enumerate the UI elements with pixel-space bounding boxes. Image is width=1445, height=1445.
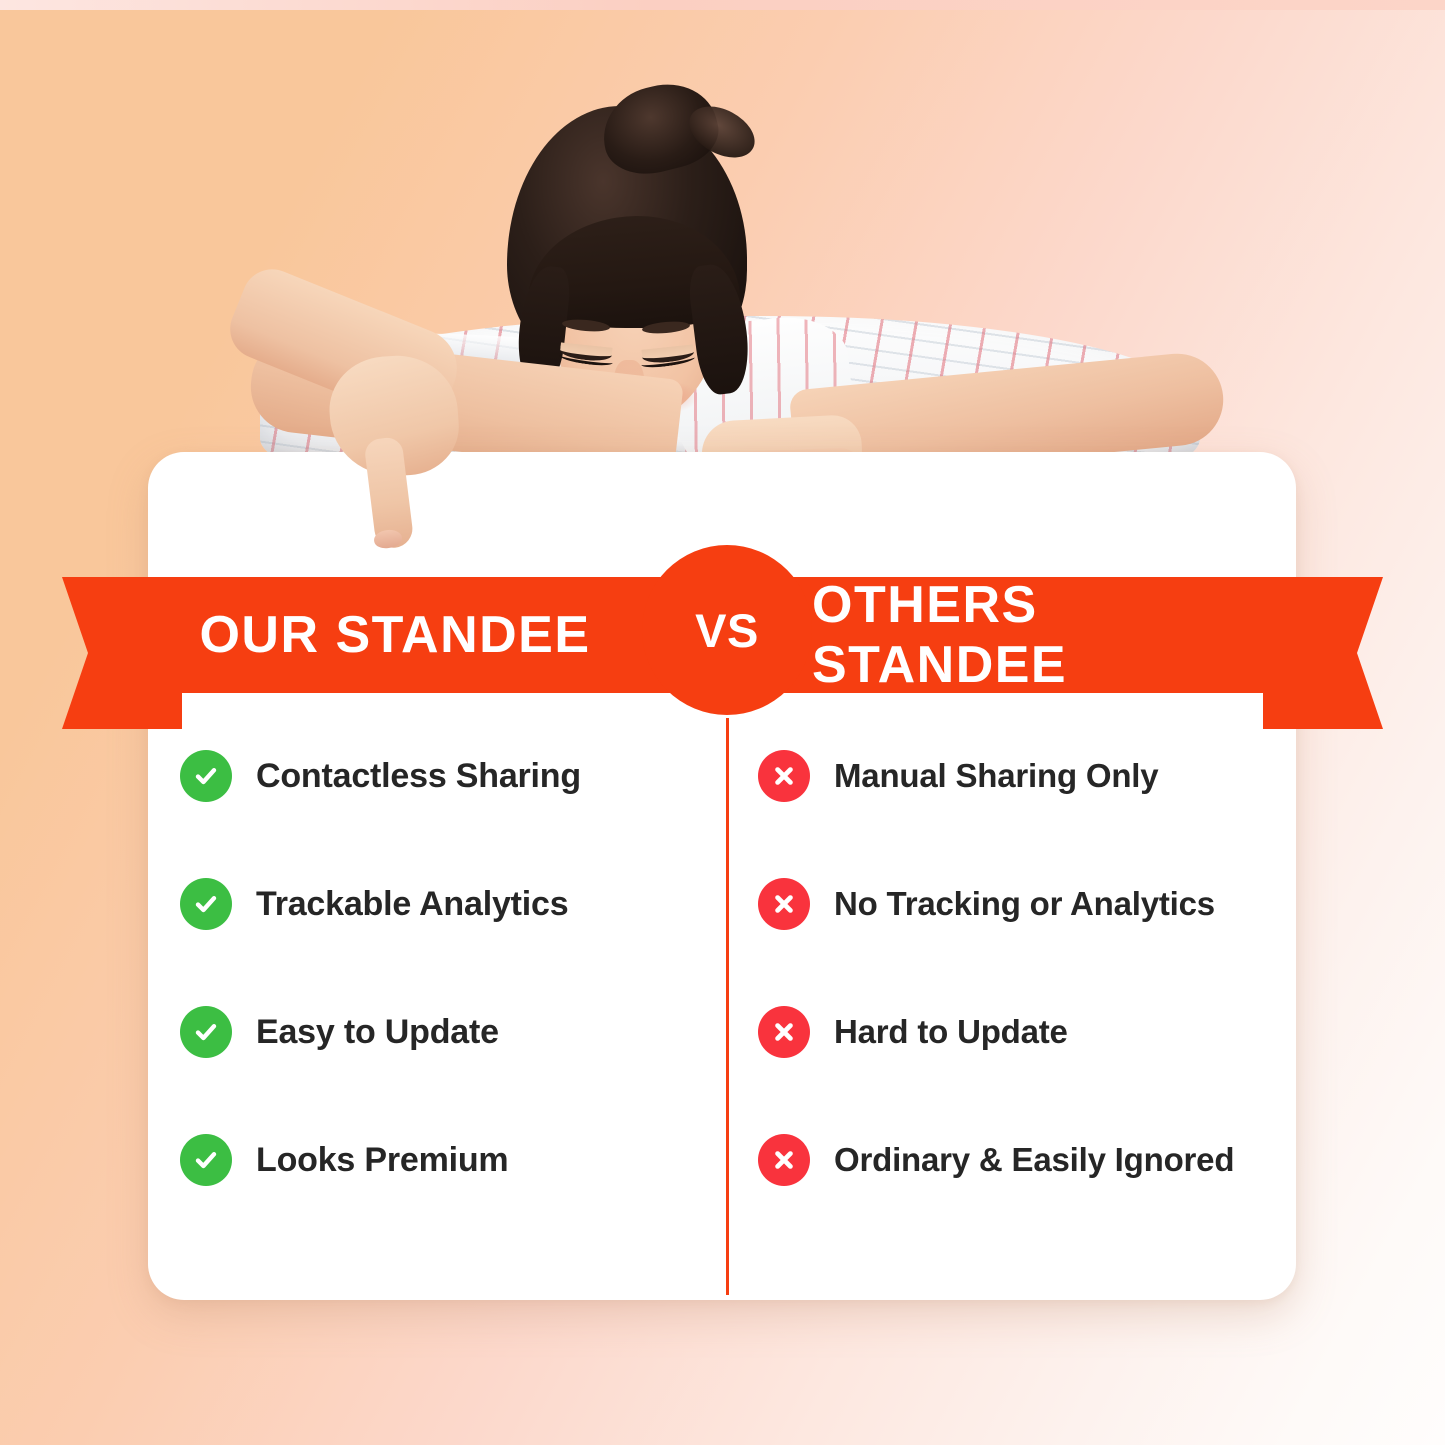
list-item: Manual Sharing Only: [740, 712, 1300, 840]
check-circle-icon: [180, 878, 232, 930]
background-top-band: [0, 0, 1445, 10]
list-item-label: Easy to Update: [256, 1013, 499, 1052]
check-circle-icon: [180, 750, 232, 802]
title-ribbon: OUR STANDEE VS OTHERS STANDEE: [0, 577, 1445, 729]
list-item-label: Hard to Update: [834, 1013, 1068, 1051]
list-item: No Tracking or Analytics: [740, 840, 1300, 968]
list-item-label: Ordinary & Easily Ignored: [834, 1141, 1234, 1179]
list-item: Trackable Analytics: [158, 840, 718, 968]
cross-circle-icon: [758, 878, 810, 930]
list-item-label: Looks Premium: [256, 1141, 508, 1180]
ours-feature-list: Contactless Sharing Trackable Analytics …: [158, 712, 718, 1224]
others-feature-list: Manual Sharing Only No Tracking or Analy…: [740, 712, 1300, 1224]
list-item: Hard to Update: [740, 968, 1300, 1096]
list-item: Contactless Sharing: [158, 712, 718, 840]
list-item-label: Manual Sharing Only: [834, 757, 1158, 795]
cross-circle-icon: [758, 750, 810, 802]
cross-circle-icon: [758, 1134, 810, 1186]
list-item: Easy to Update: [158, 968, 718, 1096]
list-item-label: No Tracking or Analytics: [834, 885, 1215, 923]
list-item-label: Trackable Analytics: [256, 885, 568, 924]
vs-label: VS: [642, 545, 812, 715]
ours-column-title: OUR STANDEE: [148, 577, 642, 693]
check-circle-icon: [180, 1006, 232, 1058]
list-item: Looks Premium: [158, 1096, 718, 1224]
column-divider: [726, 718, 729, 1295]
list-item-label: Contactless Sharing: [256, 757, 581, 796]
cross-circle-icon: [758, 1006, 810, 1058]
others-column-title: OTHERS STANDEE: [812, 577, 1296, 693]
check-circle-icon: [180, 1134, 232, 1186]
list-item: Ordinary & Easily Ignored: [740, 1096, 1300, 1224]
promo-graphic: OUR STANDEE VS OTHERS STANDEE Contactles…: [0, 0, 1445, 1445]
